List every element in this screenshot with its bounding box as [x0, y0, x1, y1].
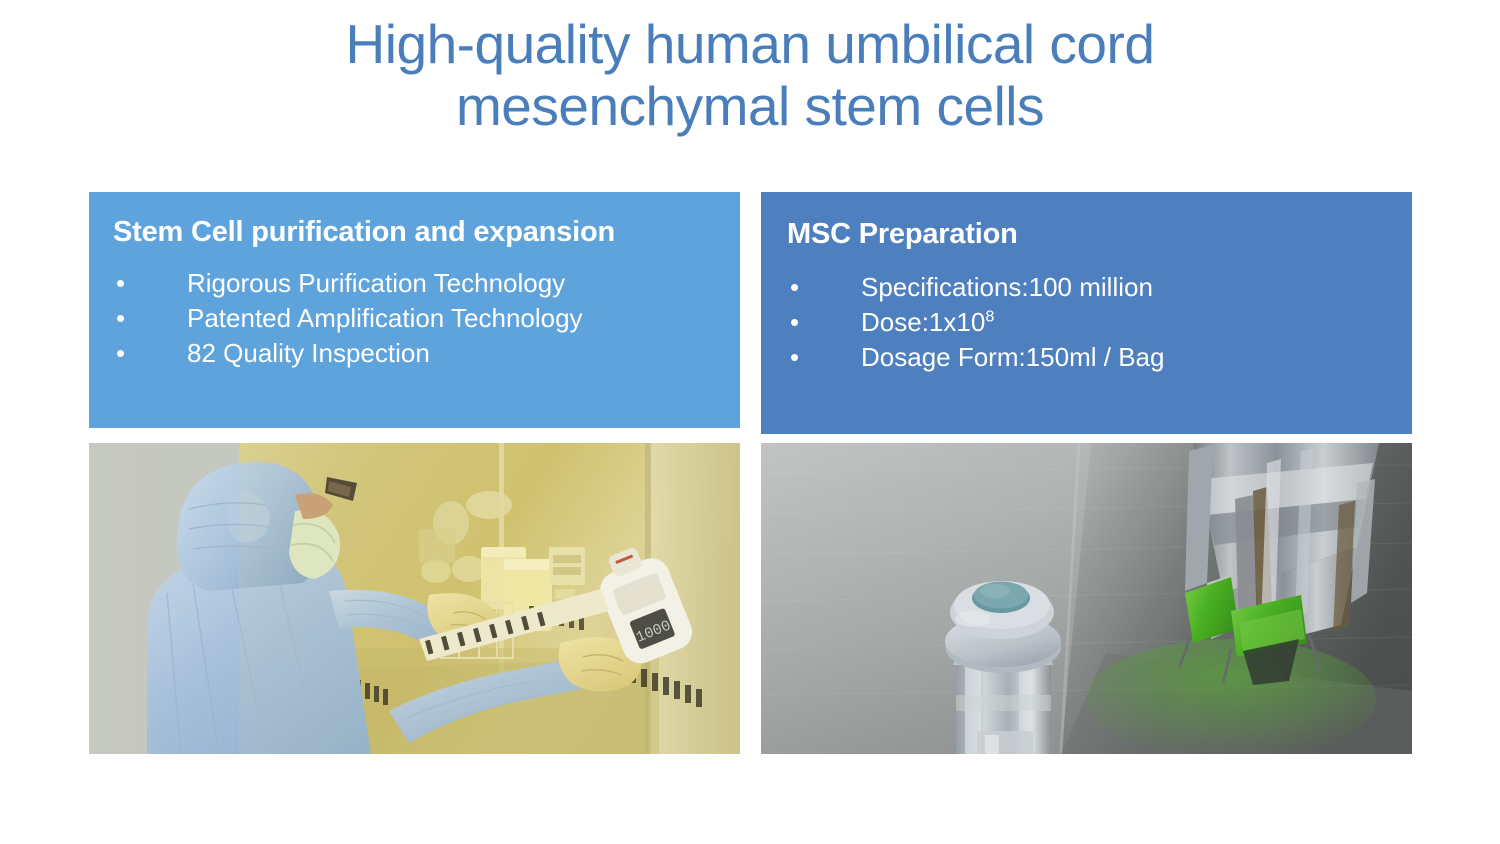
bullet-dot-icon: •: [116, 336, 136, 371]
page-title-line-2: mesenchymal stem cells: [160, 76, 1340, 138]
panel-msc-preparation: MSC Preparation • Specifications:100 mil…: [761, 192, 1412, 434]
list-item: • Specifications:100 million: [787, 270, 1164, 305]
page-title-line-1: High-quality human umbilical cord: [160, 14, 1340, 76]
list-item: • 82 Quality Inspection: [113, 336, 583, 371]
list-item: • Patented Amplification Technology: [113, 301, 583, 336]
bullet-dot-icon: •: [116, 301, 136, 336]
list-item-label: 82 Quality Inspection: [187, 338, 430, 368]
panel-heading-msc-preparation: MSC Preparation: [787, 218, 1018, 251]
bullet-list-msc-preparation: • Specifications:100 million • Dose:1x10…: [787, 270, 1164, 375]
panel-heading-stem-cell-purification: Stem Cell purification and expansion: [113, 216, 615, 249]
cleanroom-technician-photo: 1000: [89, 443, 740, 754]
list-item-label: Patented Amplification Technology: [187, 303, 583, 333]
list-item-label: Specifications:100 million: [861, 272, 1153, 302]
list-item-label: Dosage Form:150ml / Bag: [861, 342, 1164, 372]
list-item: • Dosage Form:150ml / Bag: [787, 340, 1164, 375]
list-item: • Rigorous Purification Technology: [113, 266, 583, 301]
bullet-list-stem-cell-purification: • Rigorous Purification Technology • Pat…: [113, 266, 583, 371]
vial-capping-illustration: [761, 443, 1412, 754]
page-title: High-quality human umbilical cord mesenc…: [160, 14, 1340, 137]
bullet-dot-icon: •: [790, 270, 810, 305]
list-item-label: Dose:1x10: [861, 307, 985, 337]
bullet-dot-icon: •: [790, 305, 810, 340]
cleanroom-technician-illustration: 1000: [89, 443, 740, 754]
bullet-dot-icon: •: [116, 266, 136, 301]
panel-stem-cell-purification: Stem Cell purification and expansion • R…: [89, 192, 740, 428]
bullet-dot-icon: •: [790, 340, 810, 375]
list-item-label: Rigorous Purification Technology: [187, 268, 565, 298]
vial-capping-photo: [761, 443, 1412, 754]
list-item-superscript: 8: [985, 307, 994, 325]
list-item: • Dose:1x108: [787, 305, 1164, 340]
